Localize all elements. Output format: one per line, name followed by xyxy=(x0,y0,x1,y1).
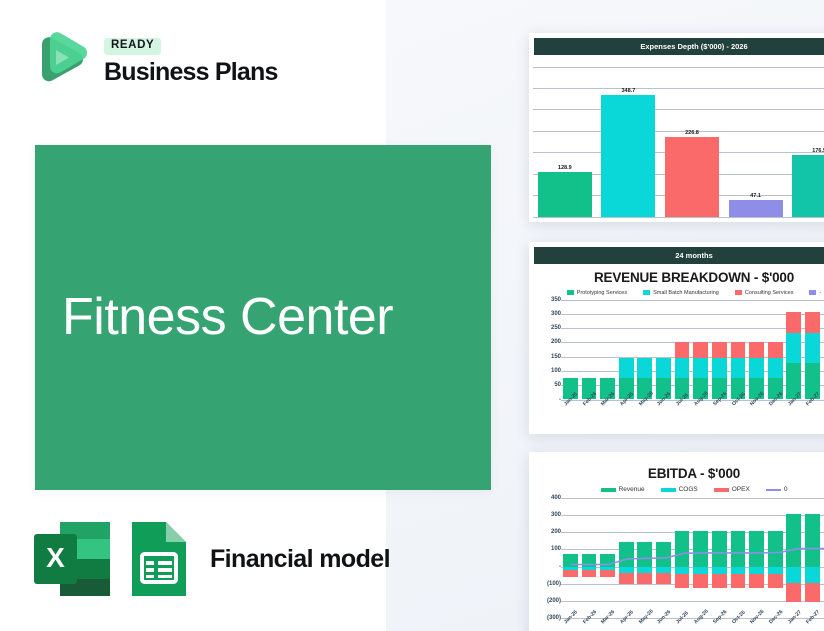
legend-swatch xyxy=(766,489,781,491)
bar-segment xyxy=(675,358,690,378)
legend-label: 0 xyxy=(784,486,788,493)
y-axis-tick: (200) xyxy=(547,598,561,604)
brand-name: Business Plans xyxy=(104,60,278,85)
y-axis-tick: 200 xyxy=(551,339,561,345)
bar-column: 226.8 xyxy=(665,67,719,217)
bar-segment xyxy=(665,137,719,216)
bar-segment xyxy=(712,342,727,359)
x-tick-wrap: Jul-26 xyxy=(673,403,692,425)
x-tick-wrap: Jan-26 xyxy=(561,403,580,425)
x-tick-wrap: Aug-26 xyxy=(691,621,710,631)
bar-segment xyxy=(786,333,801,363)
legend-item: - xyxy=(809,290,821,296)
x-tick-wrap: Jan-27 xyxy=(785,621,804,631)
bar-column xyxy=(637,300,652,400)
bar-column xyxy=(656,300,671,400)
y-axis-tick: 150 xyxy=(551,354,561,360)
bar-value-label: 128.9 xyxy=(558,165,572,171)
bar-segment xyxy=(538,172,592,217)
bar-column xyxy=(693,300,708,400)
bar-segment xyxy=(792,155,824,217)
legend-item: OPEX xyxy=(714,486,750,493)
x-tick-wrap: Jun-26 xyxy=(654,621,673,631)
expenses-plot-area: 128.9348.7226.847.1176.5 xyxy=(533,67,824,217)
brand-logo-group: READY Business Plans xyxy=(28,28,278,90)
x-axis: Jan-26Feb-26Mar-26Apr-26May-26Jun-26Jul-… xyxy=(561,403,824,425)
bar-column xyxy=(768,300,783,400)
revenue-plot-area: 35030025020015010050-Jan-26Feb-26Mar-26A… xyxy=(535,300,824,400)
x-tick-wrap: Oct-26 xyxy=(729,403,748,425)
x-tick-wrap: Apr-26 xyxy=(617,621,636,631)
ebitda-chart-title: EBITDA - $'000 xyxy=(529,466,824,481)
x-tick-wrap: Nov-26 xyxy=(747,621,766,631)
bar-value-label: 176.5 xyxy=(812,148,824,154)
bar-segment xyxy=(693,358,708,378)
brand-text-block: READY Business Plans xyxy=(104,33,278,85)
bar-column xyxy=(805,300,820,400)
expenses-chart-body: 128.9348.7226.847.1176.5 xyxy=(529,67,824,217)
y-axis-tick: 300 xyxy=(551,512,561,518)
bar-segment xyxy=(749,358,764,378)
legend-label: Consulting Services xyxy=(745,290,794,296)
bar-column xyxy=(731,300,746,400)
x-tick-wrap: Sep-26 xyxy=(710,403,729,425)
bar-column xyxy=(563,300,578,400)
bar-segment xyxy=(731,342,746,359)
legend-swatch xyxy=(735,290,742,295)
bar-segment xyxy=(749,342,764,359)
x-tick-wrap: Feb-26 xyxy=(580,621,599,631)
bar-segment xyxy=(712,358,727,378)
legend-swatch xyxy=(567,290,574,295)
bar-column xyxy=(786,300,801,400)
file-format-row: X Financial model xyxy=(32,520,390,598)
legend-item: COGS xyxy=(661,486,698,493)
y-axis: 400300200100-(100)(200)(300) xyxy=(535,498,561,618)
microsoft-excel-icon: X xyxy=(32,520,114,598)
expenses-chart-header: Expenses Depth ($'000) - 2026 xyxy=(534,38,824,55)
bar-column xyxy=(600,300,615,400)
y-axis-tick: 200 xyxy=(551,529,561,535)
y-axis-tick: (100) xyxy=(547,581,561,587)
bar-column xyxy=(675,300,690,400)
legend-item: Revenue xyxy=(601,486,645,493)
financial-model-label: Financial model xyxy=(210,545,390,574)
bar-segment xyxy=(656,358,671,378)
x-tick-wrap: Nov-26 xyxy=(747,403,766,425)
ebitda-chart-card: EBITDA - $'000 RevenueCOGSOPEX0 40030020… xyxy=(529,452,824,631)
x-tick-wrap: Feb-26 xyxy=(580,403,599,425)
x-tick-wrap: Sep-26 xyxy=(710,621,729,631)
legend-swatch xyxy=(714,488,729,492)
x-tick-wrap: Dec-26 xyxy=(766,403,785,425)
gridline xyxy=(533,217,824,218)
bar-segment xyxy=(768,342,783,359)
x-tick-wrap: Aug-26 xyxy=(691,403,710,425)
ready-badge: READY xyxy=(104,38,161,55)
bar-segment xyxy=(637,358,652,378)
legend-label: Revenue xyxy=(619,486,645,493)
play-triangle-logo-icon xyxy=(28,28,90,90)
bar-value-label: 226.8 xyxy=(685,130,699,136)
y-axis-tick: (300) xyxy=(547,615,561,621)
revenue-chart-body: 35030025020015010050-Jan-26Feb-26Mar-26A… xyxy=(529,300,824,400)
legend-swatch xyxy=(809,290,816,295)
legend-label: OPEX xyxy=(732,486,750,493)
hero-title-card: Fitness Center xyxy=(35,145,491,490)
y-axis-tick: 100 xyxy=(551,546,561,552)
bar-segment xyxy=(731,358,746,378)
bar-value-label: 47.1 xyxy=(750,193,761,199)
bar-segment xyxy=(729,200,783,216)
bar-segment xyxy=(693,342,708,359)
legend-label: - xyxy=(819,290,821,296)
bar-column xyxy=(749,300,764,400)
x-tick-wrap: Mar-26 xyxy=(598,621,617,631)
bar-column xyxy=(619,300,634,400)
y-axis: 35030025020015010050- xyxy=(535,300,561,400)
x-tick-wrap: Jul-26 xyxy=(673,621,692,631)
legend-swatch xyxy=(643,290,650,295)
legend-label: COGS xyxy=(679,486,698,493)
bar-value-label: 348.7 xyxy=(621,88,635,94)
bar-column: 128.9 xyxy=(538,67,592,217)
x-axis: Jan-26Feb-26Mar-26Apr-26May-26Jun-26Jul-… xyxy=(561,621,824,631)
legend-label: Prototyping Services xyxy=(577,290,627,296)
legend-item: Prototyping Services xyxy=(567,290,627,296)
bar-column: 348.7 xyxy=(601,67,655,217)
bar-column xyxy=(712,300,727,400)
bar-segment xyxy=(805,333,820,363)
ebitda-chart-legend: RevenueCOGSOPEX0 xyxy=(529,486,824,493)
x-tick-wrap: Dec-26 xyxy=(766,621,785,631)
svg-text:X: X xyxy=(46,542,65,573)
y-axis-tick: 250 xyxy=(551,325,561,331)
bar-segment xyxy=(768,358,783,378)
x-tick-wrap: May-26 xyxy=(636,403,655,425)
x-tick-wrap: Jan-26 xyxy=(561,621,580,631)
y-axis-tick: 50 xyxy=(554,382,561,388)
page-title: Fitness Center xyxy=(35,290,393,345)
revenue-chart-title: REVENUE BREAKDOWN - $'000 xyxy=(529,270,824,285)
bar-segment xyxy=(675,342,690,359)
legend-swatch xyxy=(661,488,676,492)
bar-segment xyxy=(786,312,801,333)
bar-column xyxy=(582,300,597,400)
legend-item: 0 xyxy=(766,486,788,493)
bar-segment xyxy=(619,358,634,378)
x-tick-wrap: Feb-27 xyxy=(803,621,822,631)
bar-segment xyxy=(805,312,820,333)
x-tick-wrap: Oct-26 xyxy=(729,621,748,631)
x-tick-wrap: Jan-27 xyxy=(785,403,804,425)
gridline xyxy=(561,400,824,401)
revenue-chart-legend: Prototyping ServicesSmall Batch Manufact… xyxy=(529,290,824,296)
trend-line xyxy=(561,498,824,618)
x-tick-wrap: Jun-26 xyxy=(654,403,673,425)
bar-column: 47.1 xyxy=(729,67,783,217)
y-axis-tick: 350 xyxy=(551,297,561,303)
x-tick-wrap: May-26 xyxy=(636,621,655,631)
google-sheets-icon xyxy=(128,520,190,598)
x-tick-wrap: Apr-26 xyxy=(617,403,636,425)
revenue-breakdown-chart-card: 24 months REVENUE BREAKDOWN - $'000 Prot… xyxy=(529,242,824,434)
legend-label: Small Batch Manufacturing xyxy=(653,290,719,296)
bar-group xyxy=(561,300,824,400)
bar-column: 176.5 xyxy=(792,67,824,217)
legend-swatch xyxy=(601,488,616,492)
revenue-chart-header: 24 months xyxy=(534,247,824,264)
y-axis-tick: 100 xyxy=(551,368,561,374)
bar-segment xyxy=(601,95,655,217)
y-axis-tick: 300 xyxy=(551,311,561,317)
ebitda-chart-body: 400300200100-(100)(200)(300)Jan-26Feb-26… xyxy=(529,498,824,618)
bar-group: 128.9348.7226.847.1176.5 xyxy=(533,67,824,217)
ebitda-plot-area: 400300200100-(100)(200)(300)Jan-26Feb-26… xyxy=(535,498,824,618)
expenses-depth-chart-card: Expenses Depth ($'000) - 2026 128.9348.7… xyxy=(529,33,824,222)
x-tick-wrap: Mar-26 xyxy=(598,403,617,425)
legend-item: Small Batch Manufacturing xyxy=(643,290,719,296)
y-axis-tick: 400 xyxy=(551,495,561,501)
x-tick-wrap: Feb-27 xyxy=(803,403,822,425)
legend-item: Consulting Services xyxy=(735,290,794,296)
